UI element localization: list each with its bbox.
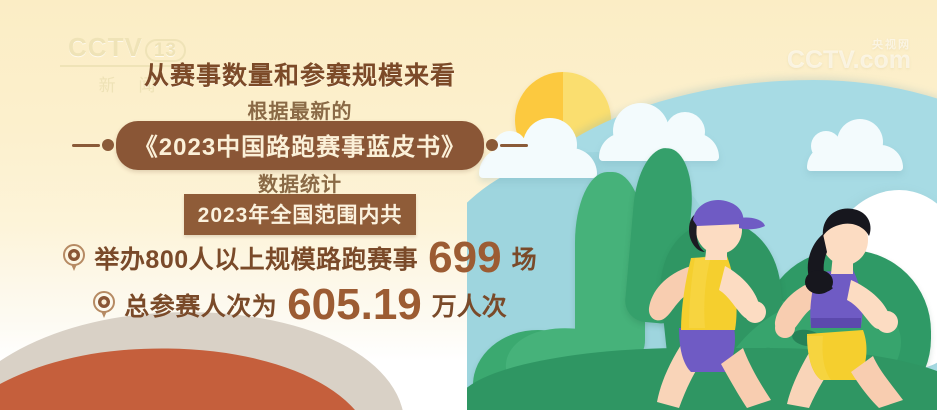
book-title-row: 《2023中国路跑赛事蓝皮书》 xyxy=(0,124,600,166)
year-banner-row: 2023年全国范围内共 xyxy=(0,194,600,235)
decoration-line-icon xyxy=(500,144,528,147)
female-runner-icon xyxy=(763,200,923,410)
book-title-pill: 《2023中国路跑赛事蓝皮书》 xyxy=(116,121,484,170)
data-row-number: 699 xyxy=(428,236,501,280)
subheadline: 根据最新的 xyxy=(0,95,600,124)
location-pin-icon xyxy=(63,244,85,272)
location-pin-icon xyxy=(93,291,115,319)
infographic-root: CCTV13 新 闻 央视网 CCTV.com 从赛事数量和参赛规模来看 根据最… xyxy=(0,0,937,410)
data-row-unit: 场 xyxy=(512,240,537,276)
data-row-number: 605.19 xyxy=(287,283,422,327)
cloud-icon xyxy=(807,145,903,171)
statistics-source-label: 数据统计 xyxy=(0,168,600,197)
decoration-right xyxy=(484,139,528,151)
decoration-left xyxy=(72,139,116,151)
year-banner: 2023年全国范围内共 xyxy=(184,194,417,235)
data-row-unit: 万人次 xyxy=(432,287,507,323)
data-row: 总参赛人次为 605.19 万人次 xyxy=(0,283,600,327)
data-row-label: 总参赛人次为 xyxy=(124,287,277,323)
text-panel: 从赛事数量和参赛规模来看 根据最新的 《2023中国路跑赛事蓝皮书》 数据统计 … xyxy=(0,0,600,410)
data-row: 举办800人以上规模路跑赛事 699 场 xyxy=(0,236,600,280)
decoration-line-icon xyxy=(72,144,100,147)
decoration-dot-icon xyxy=(486,139,498,151)
headline: 从赛事数量和参赛规模来看 xyxy=(0,56,600,92)
data-row-label: 举办800人以上规模路跑赛事 xyxy=(94,240,418,276)
decoration-dot-icon xyxy=(102,139,114,151)
